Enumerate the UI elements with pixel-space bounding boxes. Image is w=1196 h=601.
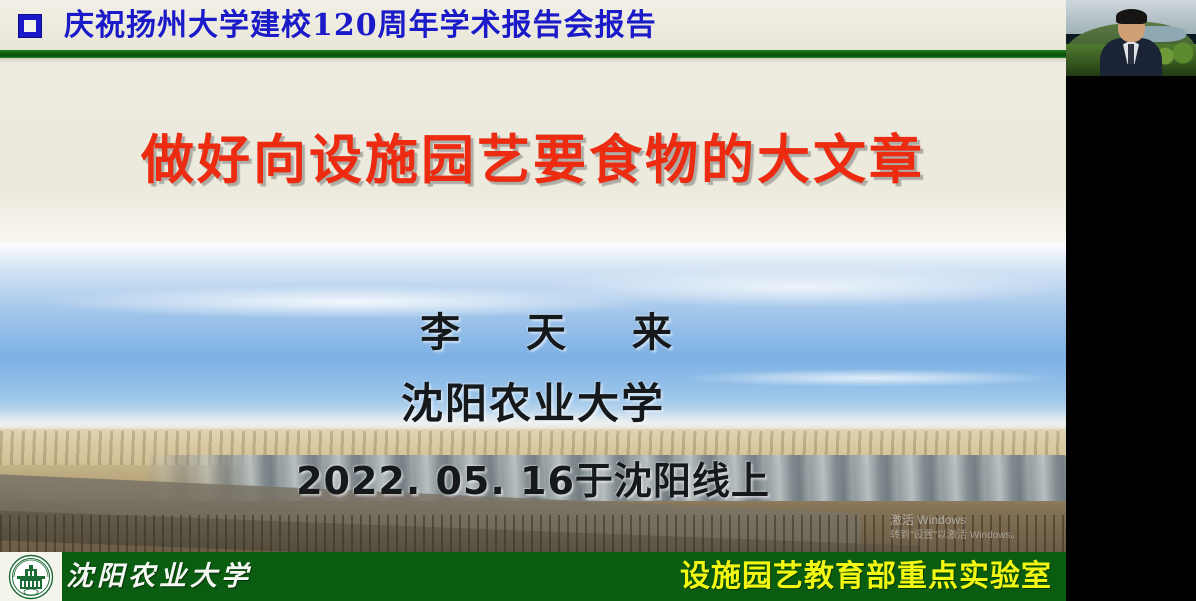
- speaker-name: 李 天 来: [0, 300, 1066, 358]
- slide-footer-bar: 沈阳农业大学 设施园艺教育部重点实验室: [0, 552, 1066, 601]
- slide-main-title: 做好向设施园艺要食物的大文章: [0, 118, 1066, 194]
- presentation-screen: 庆祝扬州大学建校120周年学术报告会报告 做好向设施园艺要食物的大文章 李 天 …: [0, 0, 1196, 601]
- windows-activation-watermark: 激活 Windows 转到"设置"以激活 Windows。: [890, 513, 1066, 543]
- slide-header-band: 庆祝扬州大学建校120周年学术报告会报告: [0, 0, 1066, 50]
- footer-university-name: 沈阳农业大学: [66, 556, 252, 597]
- speaker-hair: [1116, 9, 1147, 24]
- blue-square-bullet-icon: [18, 14, 42, 38]
- slide-header-title: 庆祝扬州大学建校120周年学术报告会报告: [64, 3, 657, 49]
- video-sidebar: [1066, 0, 1196, 601]
- watermark-line-2: 转到"设置"以激活 Windows。: [890, 528, 1066, 543]
- footer-lab-name: 设施园艺教育部重点实验室: [680, 555, 1052, 598]
- watermark-line-1: 激活 Windows: [890, 513, 1066, 528]
- speaker-video-tile[interactable]: [1066, 0, 1196, 76]
- speaker-organization: 沈阳农业大学: [0, 370, 1066, 431]
- speaker-tie: [1128, 44, 1134, 64]
- university-logo-container: [0, 552, 62, 601]
- slide-canvas: 庆祝扬州大学建校120周年学术报告会报告 做好向设施园艺要食物的大文章 李 天 …: [0, 0, 1066, 601]
- header-green-divider: [0, 50, 1066, 58]
- shenyang-agricultural-university-seal-icon: [8, 554, 54, 600]
- presentation-date: 2022. 05. 16于沈阳线上: [0, 450, 1066, 505]
